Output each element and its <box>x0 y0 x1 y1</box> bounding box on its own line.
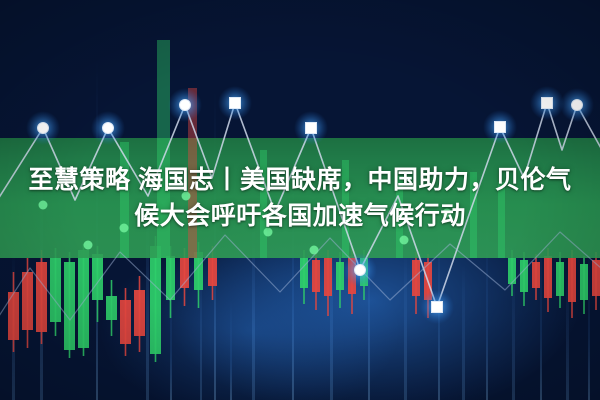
headline-line-1: 至慧策略 海国志丨美国缺席，中国助力，贝伦气 <box>29 165 572 195</box>
headline-line-2: 候大会呼吁各国加速气候行动 <box>134 201 466 231</box>
thumbnail-canvas: 至慧策略 海国志丨美国缺席，中国助力，贝伦气 候大会呼吁各国加速气候行动 <box>0 0 600 400</box>
headline-block: 至慧策略 海国志丨美国缺席，中国助力，贝伦气 候大会呼吁各国加速气候行动 <box>0 138 600 258</box>
